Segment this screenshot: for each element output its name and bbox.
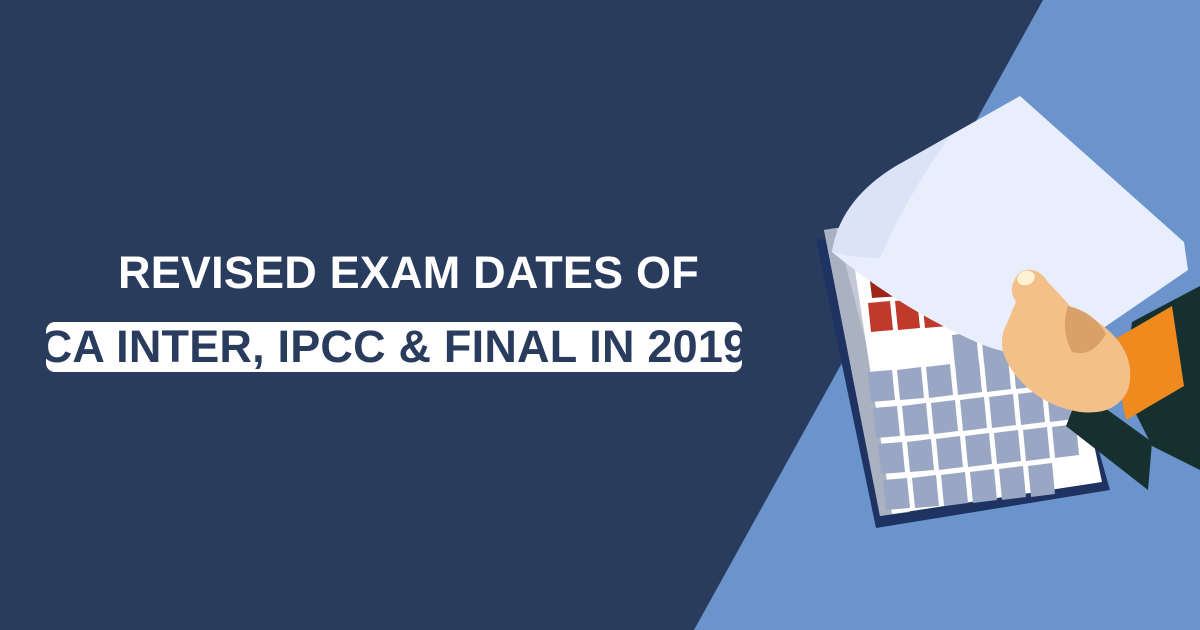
promo-banner: REVISED EXAM DATES OF CA INTER, IPCC & F…	[0, 0, 1200, 630]
calendar-illustration	[780, 90, 1200, 550]
